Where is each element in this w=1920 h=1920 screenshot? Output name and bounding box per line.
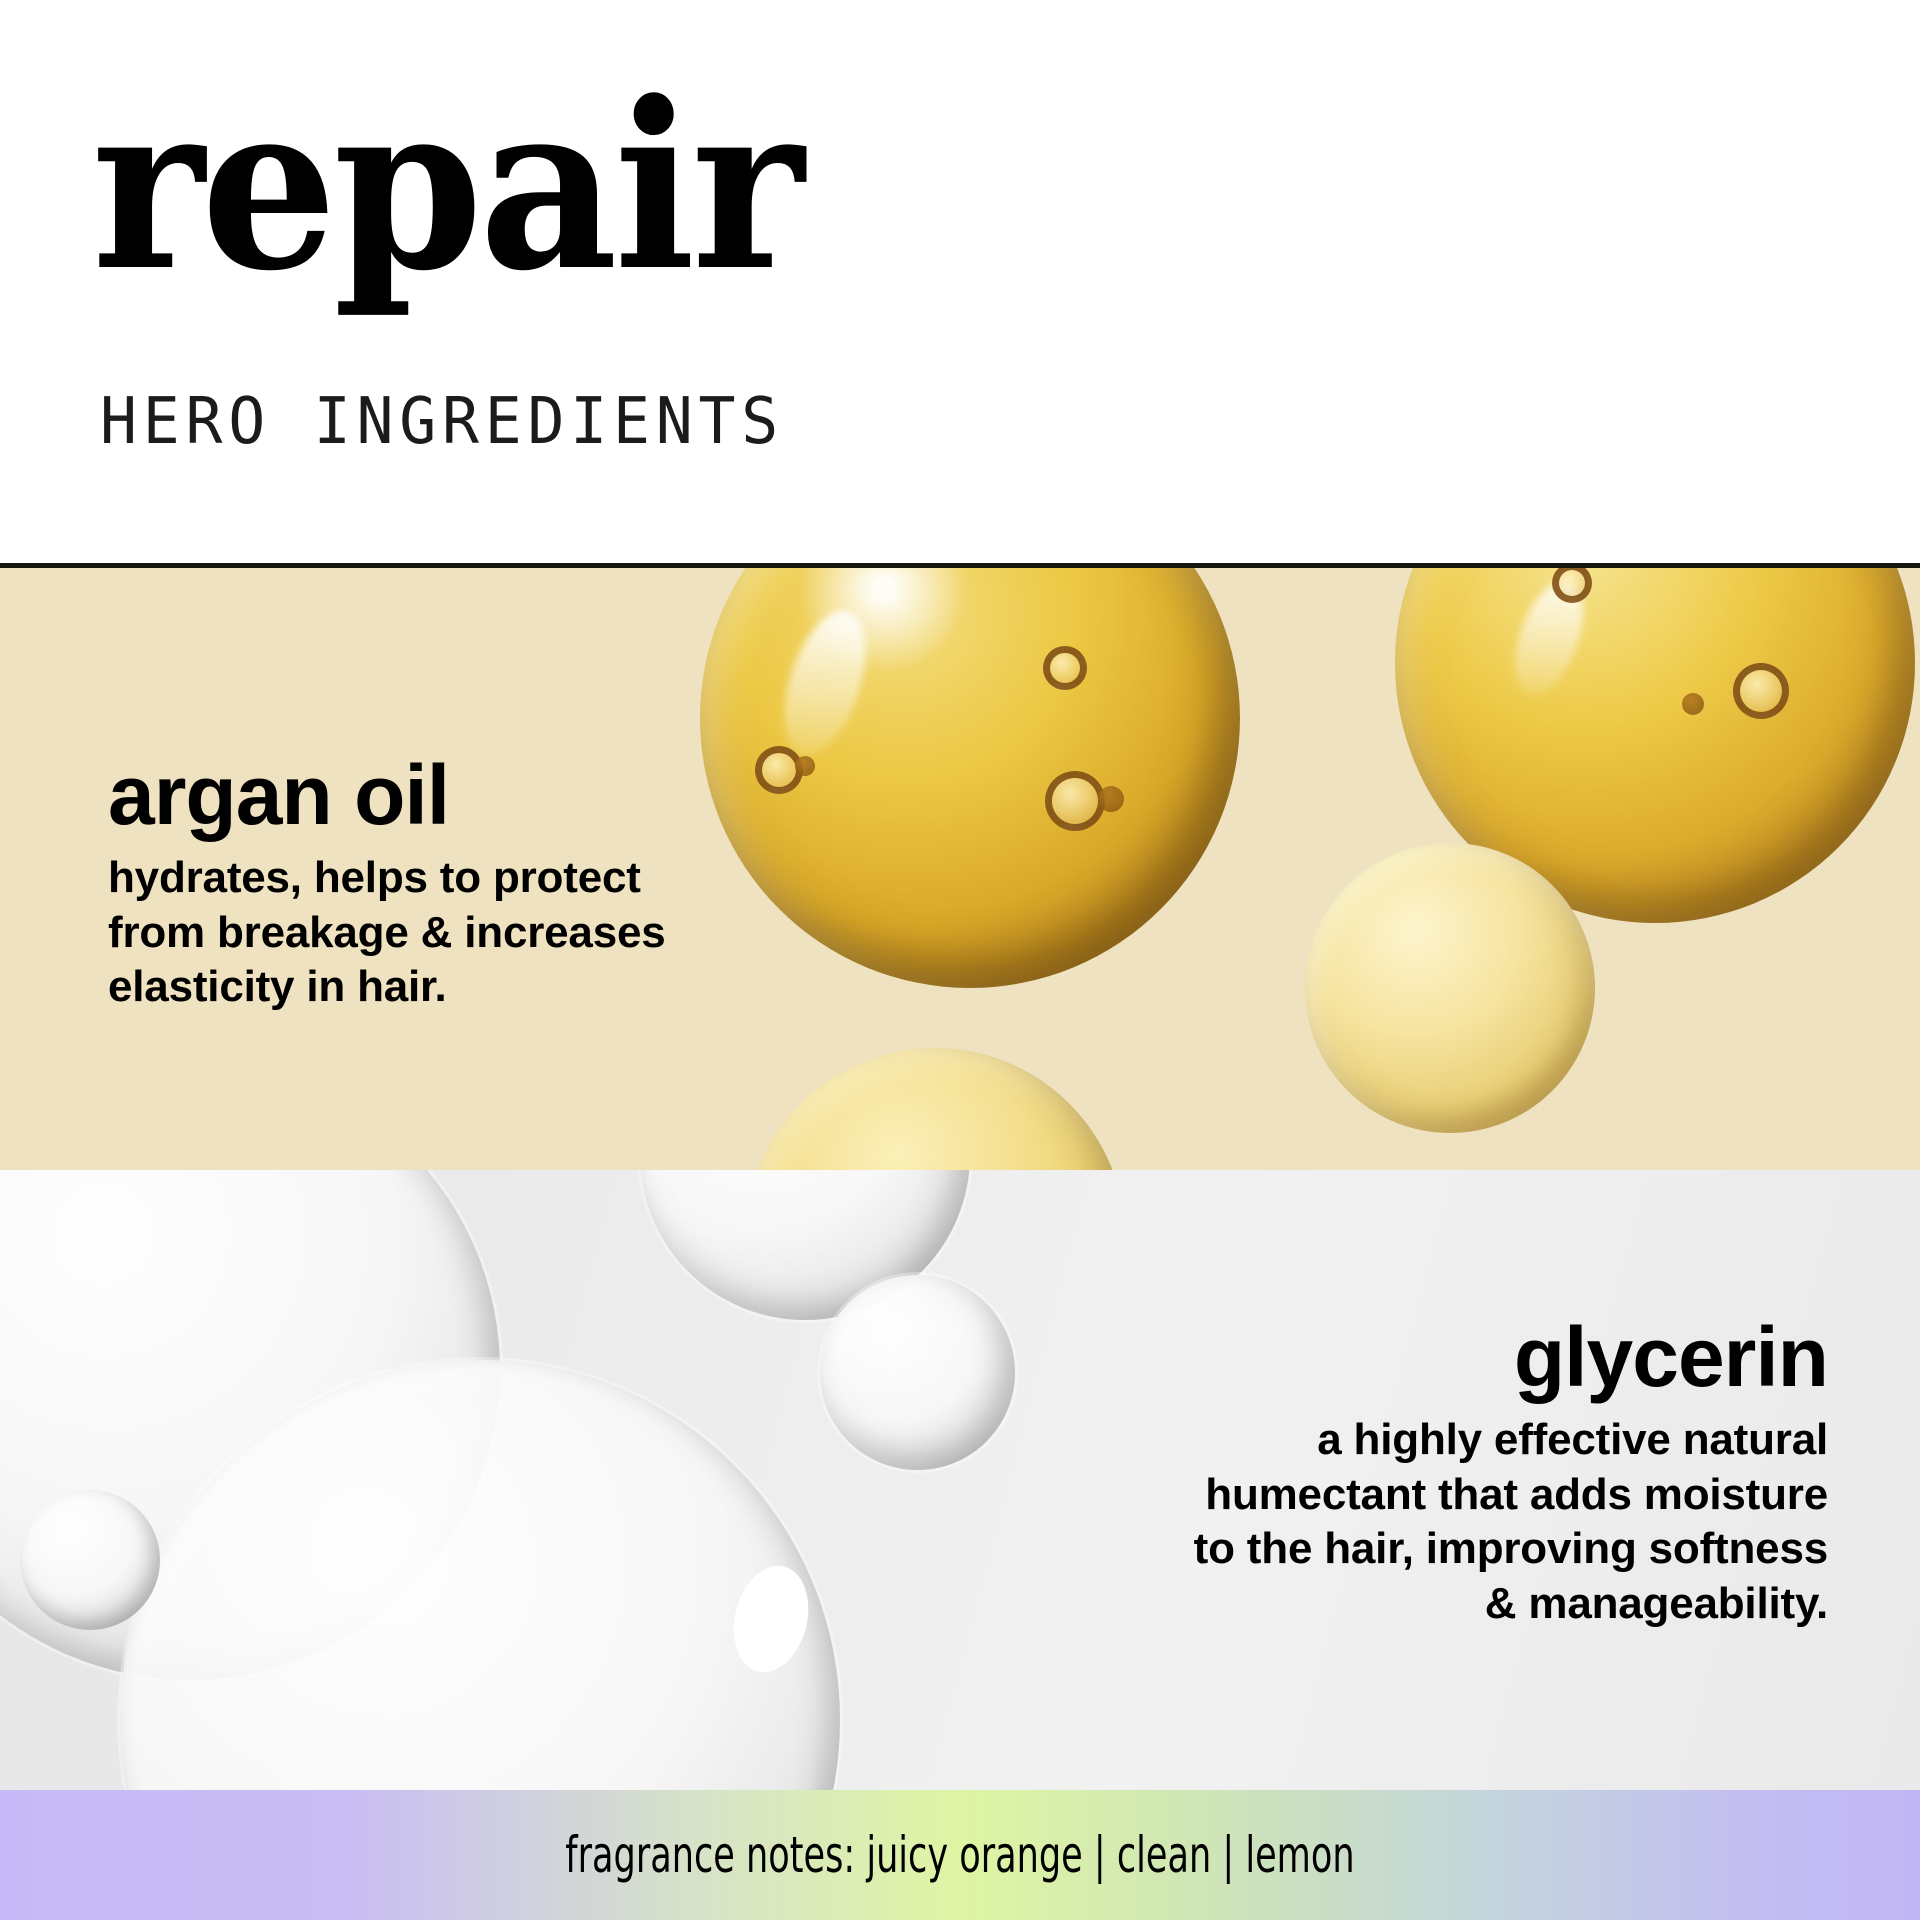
ingredient-description-argan-oil: hydrates, helps to protect from breakage… — [108, 851, 728, 1015]
section-glycerin: glycerin a highly effective natural hume… — [0, 1170, 1920, 1790]
gel-bubble-tiny — [820, 1275, 1015, 1470]
oil-bubble-dot — [795, 756, 815, 776]
section-argan-oil: argan oil hydrates, helps to protect fro… — [0, 568, 1920, 1170]
gel-bubble-droplet — [20, 1490, 160, 1630]
ingredient-description-glycerin: a highly effective natural humectant tha… — [1148, 1413, 1828, 1631]
ingredient-name-glycerin: glycerin — [1148, 1315, 1828, 1399]
oil-bubble-dot — [1098, 786, 1124, 812]
oil-bubble-ring — [1045, 771, 1105, 831]
fragrance-notes-bar: fragrance notes: juicy orange | clean | … — [0, 1790, 1920, 1920]
oil-bubble-dot — [1682, 693, 1704, 715]
oil-bubble-ring — [1043, 646, 1087, 690]
glycerin-text-block: glycerin a highly effective natural hume… — [1148, 1315, 1828, 1631]
oil-droplet-bottom — [745, 1048, 1125, 1170]
oil-droplet-medium — [1305, 843, 1595, 1133]
fragrance-notes-text: fragrance notes: juicy orange | clean | … — [565, 1826, 1354, 1884]
argan-oil-text-block: argan oil hydrates, helps to protect fro… — [108, 753, 728, 1015]
header: repair HERO INGREDIENTS — [0, 0, 1920, 567]
ingredient-name-argan-oil: argan oil — [108, 753, 728, 837]
page-subtitle: HERO INGREDIENTS — [100, 385, 784, 459]
oil-bubble-ring — [1733, 663, 1789, 719]
page-title: repair — [92, 78, 801, 297]
hero-ingredients-infographic: repair HERO INGREDIENTS argan oil hydrat… — [0, 0, 1920, 1920]
